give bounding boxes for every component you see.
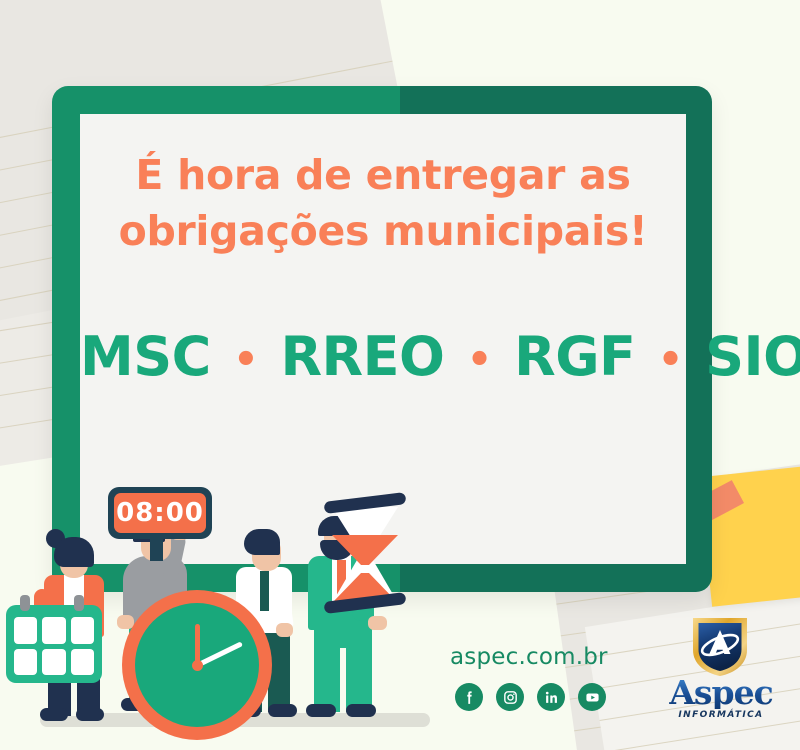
shoe-right (346, 704, 376, 717)
youtube-icon[interactable] (578, 683, 606, 711)
calendar-cell (71, 617, 94, 644)
calendar-cell (71, 649, 94, 676)
shoe-left (306, 704, 336, 717)
social-links-row (455, 683, 606, 711)
website-url[interactable]: aspec.com.br (450, 644, 608, 670)
hair (54, 537, 94, 567)
hourglass-sand-top (332, 535, 398, 565)
aspec-logo[interactable]: Aspec INFORMÁTICA (663, 614, 779, 726)
analog-clock (122, 590, 272, 740)
necktie (260, 571, 269, 611)
aspec-tagline: INFORMÁTICA (663, 710, 779, 720)
shoe-left (40, 708, 68, 721)
obligation-siops: SIOPS (705, 325, 800, 388)
headline-line-1: É hora de entregar as (135, 151, 630, 199)
headline-line-2: obrigações municipais! (80, 204, 686, 260)
hand (368, 616, 387, 630)
sticky-note (699, 463, 800, 606)
leg-gap (340, 648, 346, 712)
obligations-list: MSC • RREO • RGF • SIOPS (80, 330, 686, 384)
calendar-ring-right (74, 595, 84, 611)
clock-center-pin (192, 660, 203, 671)
aspec-wordmark-block: Aspec INFORMÁTICA (663, 676, 779, 720)
bullet-separator-2: • (463, 337, 496, 383)
instagram-icon[interactable] (496, 683, 524, 711)
calendar-cell (42, 649, 65, 676)
calendar-cell (42, 617, 65, 644)
calendar-cell (14, 649, 37, 676)
social-card-canvas: É hora de entregar as obrigações municip… (0, 0, 800, 750)
aspec-shield-icon (689, 614, 751, 680)
hourglass-icon (322, 497, 408, 615)
obligation-msc: MSC (80, 325, 211, 388)
hand (276, 623, 293, 637)
calendar-day-grid (14, 617, 94, 675)
shoe-right (76, 708, 104, 721)
calendar-ring-left (20, 595, 30, 611)
hair (244, 529, 280, 555)
headline: É hora de entregar as obrigações municip… (80, 148, 686, 260)
aspec-wordmark: Aspec (663, 676, 779, 709)
digital-clock-sign: 08:00 (108, 487, 212, 539)
calendar-cell (14, 617, 37, 644)
bullet-separator-3: • (654, 337, 687, 383)
linkedin-icon[interactable] (537, 683, 565, 711)
obligation-rreo: RREO (280, 325, 444, 388)
calendar-icon (6, 605, 102, 683)
digital-clock-face: 08:00 (114, 493, 206, 533)
obligation-rgf: RGF (514, 325, 635, 388)
facebook-icon[interactable] (455, 683, 483, 711)
bullet-separator-1: • (229, 337, 262, 383)
digital-clock-time: 08:00 (116, 500, 204, 526)
